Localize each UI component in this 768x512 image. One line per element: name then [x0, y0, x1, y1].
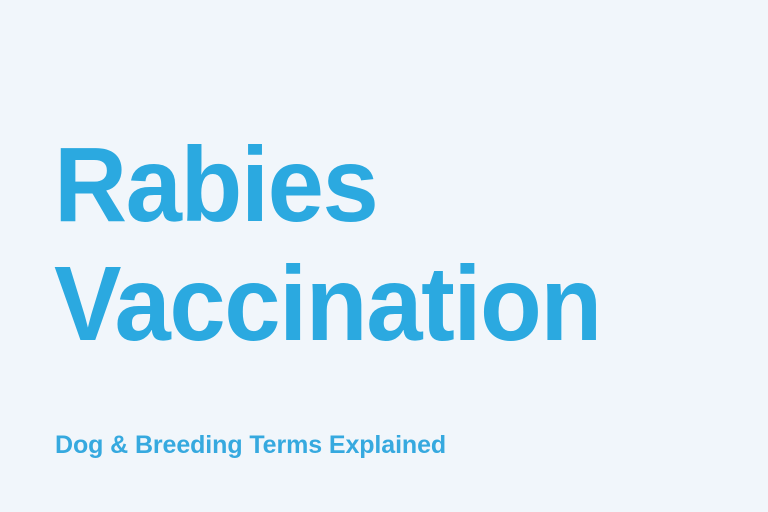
page-title-line-2: Vaccination: [54, 245, 703, 364]
page-subtitle: Dog & Breeding Terms Explained: [55, 430, 446, 460]
page-title: Rabies Vaccination: [54, 126, 734, 364]
page-title-line-1: Rabies: [54, 126, 703, 245]
title-card: Rabies Vaccination Dog & Breeding Terms …: [0, 0, 768, 512]
